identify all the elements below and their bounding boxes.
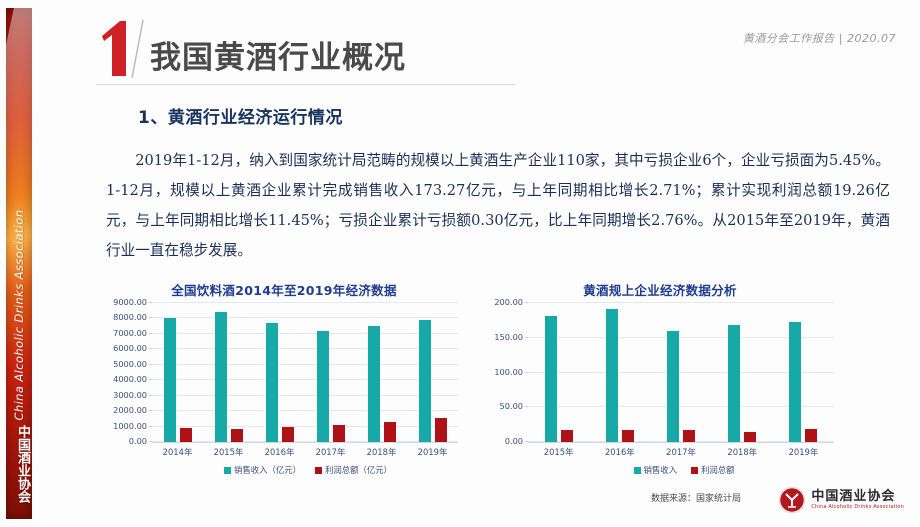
data-source-note: 数据来源：国家统计局: [651, 491, 741, 504]
chart-left-title: 全国饮料酒2014年至2019年经济数据: [104, 280, 464, 299]
x-axis-tick-label: 2016年: [589, 446, 650, 458]
bar-revenue: [789, 322, 801, 442]
bar-revenue: [266, 323, 278, 442]
bar-profit: [333, 425, 345, 442]
y-axis-tick-label: 100.00: [494, 367, 523, 377]
section-number-one-icon: [96, 18, 150, 80]
chart-right-plot: 200.00150.00100.0050.000.00: [528, 303, 834, 443]
y-axis-tick-label: 0.00: [505, 436, 523, 446]
y-axis-tick-label: 5000.00: [113, 359, 147, 369]
y-axis-tick-label: 6000.00: [113, 343, 147, 353]
chart-left-bars: [152, 303, 458, 442]
association-logo-text: 中国酒业协会 China Alcoholic Drinks Associatio…: [811, 490, 904, 510]
legend-swatch: [634, 467, 641, 474]
bar-profit: [744, 432, 756, 442]
header-divider: [96, 84, 516, 85]
page-title-group: 我国黄酒行业概况: [96, 18, 406, 80]
bar-revenue: [728, 325, 740, 442]
y-axis-tick-label: 9000.00: [113, 297, 147, 307]
x-axis-tick-label: 2015年: [203, 446, 254, 458]
bar-profit: [561, 430, 573, 442]
legend-label: 利润总额（亿元）: [325, 464, 392, 476]
bar-profit: [435, 418, 447, 442]
body-paragraph: 2019年1-12月，纳入到国家统计局范畴的规模以上黄酒生产企业110家，其中亏…: [106, 146, 890, 266]
legend-item: 利润总额: [691, 464, 735, 476]
chart-right: 黄酒规上企业经济数据分析 200.00150.00100.0050.000.00…: [480, 280, 840, 476]
y-axis-tick-label: 0.00: [129, 436, 147, 446]
bar-profit: [384, 422, 396, 442]
bar-group: [152, 303, 203, 442]
bar-revenue: [317, 331, 329, 442]
association-logo-chinese: 中国酒业协会: [811, 490, 904, 504]
section-heading: 1、黄酒行业经济运行情况: [138, 103, 343, 128]
x-axis-tick-label: 2018年: [356, 446, 407, 458]
bar-group: [305, 303, 356, 442]
bar-revenue: [606, 309, 618, 442]
bar-profit: [282, 427, 294, 442]
bar-profit: [622, 430, 634, 442]
slide-canvas: China Alcoholic Drinks Association 中国酒业协…: [0, 0, 920, 527]
x-axis-tick-label: 2017年: [650, 446, 711, 458]
bar-group: [356, 303, 407, 442]
chart-right-legend: 销售收入利润总额: [528, 464, 840, 476]
y-axis-tick-label: 4000.00: [113, 374, 147, 384]
bar-group: [407, 303, 458, 442]
y-axis-tick-label: 1000.00: [113, 421, 147, 431]
x-axis-tick-label: 2019年: [773, 446, 834, 458]
bar-revenue: [667, 331, 679, 442]
x-axis-tick-label: 2015年: [528, 446, 589, 458]
bar-profit: [683, 430, 695, 442]
y-axis-tick-label: 150.00: [494, 332, 523, 342]
sidebar-english-label: China Alcoholic Drinks Association: [12, 209, 26, 420]
association-logo: 中国酒业协会 China Alcoholic Drinks Associatio…: [779, 487, 904, 513]
legend-label: 销售收入: [644, 464, 678, 476]
bar-revenue: [419, 320, 431, 442]
bar-profit: [231, 429, 243, 442]
legend-label: 利润总额: [701, 464, 735, 476]
bar-group: [203, 303, 254, 442]
page-title: 我国黄酒行业概况: [150, 43, 406, 80]
bar-group: [589, 303, 650, 442]
bar-group: [712, 303, 773, 442]
legend-swatch: [315, 467, 322, 474]
y-axis-tick-label: 8000.00: [113, 312, 147, 322]
legend-swatch: [224, 467, 231, 474]
x-axis-tick-label: 2016年: [254, 446, 305, 458]
y-axis-tick-label: 3000.00: [113, 390, 147, 400]
bar-revenue: [545, 316, 557, 442]
chart-left-x-axis: 2014年2015年2016年2017年2018年2019年: [152, 446, 458, 458]
association-logo-english: China Alcoholic Drinks Association: [811, 505, 904, 510]
legend-item: 销售收入: [634, 464, 678, 476]
x-axis-tick-label: 2014年: [152, 446, 203, 458]
bar-group: [650, 303, 711, 442]
sidebar-chinese-label: 中国酒业协会: [8, 425, 30, 503]
chart-right-x-axis: 2015年2016年2017年2018年2019年: [528, 446, 834, 458]
bar-profit: [805, 429, 817, 442]
bar-group: [773, 303, 834, 442]
decorative-sidebar: China Alcoholic Drinks Association 中国酒业协…: [6, 8, 32, 519]
x-axis-tick-label: 2018年: [712, 446, 773, 458]
bar-profit: [180, 428, 192, 442]
x-axis-tick-label: 2017年: [305, 446, 356, 458]
bar-revenue: [368, 326, 380, 442]
bar-revenue: [215, 312, 227, 442]
legend-item: 销售收入（亿元）: [224, 464, 301, 476]
legend-item: 利润总额（亿元）: [315, 464, 392, 476]
bar-group: [254, 303, 305, 442]
y-axis-tick-label: 50.00: [500, 401, 523, 411]
chart-left-legend: 销售收入（亿元）利润总额（亿元）: [152, 464, 464, 476]
chart-right-bars: [528, 303, 834, 442]
bar-group: [528, 303, 589, 442]
x-axis-tick-label: 2019年: [407, 446, 458, 458]
legend-label: 销售收入（亿元）: [234, 464, 301, 476]
header-meta: 黄酒分会工作报告 | 2020.07: [743, 30, 896, 46]
chart-right-title: 黄酒规上企业经济数据分析: [480, 280, 840, 299]
association-emblem-icon: [779, 487, 805, 513]
chart-left-plot: 9000.008000.007000.006000.005000.004000.…: [152, 303, 458, 443]
y-axis-tick-label: 7000.00: [113, 328, 147, 338]
bar-revenue: [164, 318, 176, 442]
legend-swatch: [691, 467, 698, 474]
chart-left: 全国饮料酒2014年至2019年经济数据 9000.008000.007000.…: [104, 280, 464, 476]
y-axis-tick-label: 200.00: [494, 297, 523, 307]
y-axis-tick-label: 2000.00: [113, 405, 147, 415]
